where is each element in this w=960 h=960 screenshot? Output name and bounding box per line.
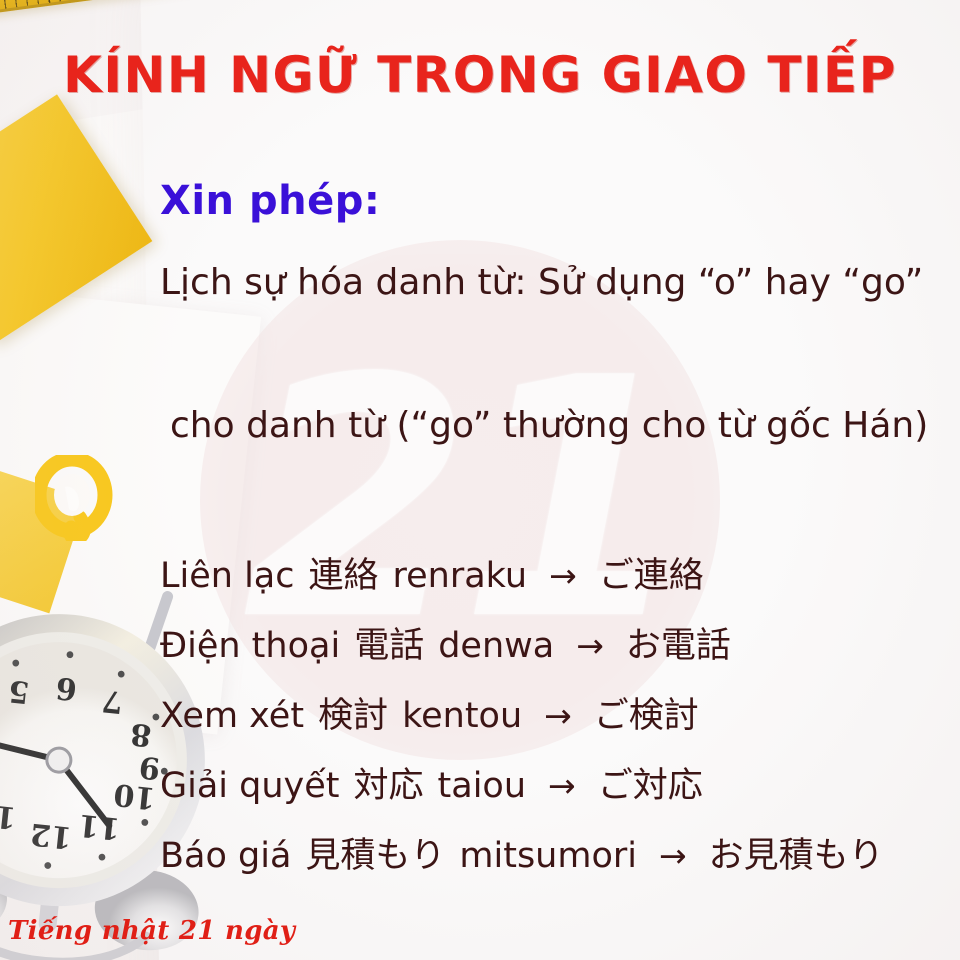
vocab-keigo: ご対応 xyxy=(598,755,703,817)
vocab-row: Báo giá 見積もり mitsumori → お見積もり xyxy=(160,825,884,887)
vocab-kanji: 見積もり xyxy=(305,825,445,887)
vocab-kanji: 電話 xyxy=(354,615,424,677)
vocab-kanji: 検討 xyxy=(318,685,388,747)
vocab-kanji: 連絡 xyxy=(308,545,378,607)
vocab-keigo: お電話 xyxy=(626,615,731,677)
arrow-icon: → xyxy=(576,615,604,677)
vocab-vietnamese: Xem xét xyxy=(160,685,304,747)
arrow-icon: → xyxy=(659,825,687,887)
vocab-keigo: ご連絡 xyxy=(599,545,704,607)
slide-content: KÍNH NGỮ TRONG GIAO TIẾP Xin phép: Lịch … xyxy=(0,0,960,960)
vocab-row: Điện thoại 電話 denwa → お電話 xyxy=(160,615,884,677)
rule-line-2: cho danh từ (“go” thường cho từ gốc Hán) xyxy=(170,405,928,446)
vocab-row: Liên lạc 連絡 renraku → ご連絡 xyxy=(160,545,884,607)
page-title: KÍNH NGỮ TRONG GIAO TIẾP xyxy=(0,46,960,104)
vocab-romaji: kentou xyxy=(402,685,522,747)
vocab-romaji: denwa xyxy=(438,615,554,677)
vocab-romaji: mitsumori xyxy=(459,825,637,887)
slide-canvas: 26 25 24 23 22 21 20 19 18 17 16 15 xyxy=(0,0,960,960)
vocab-romaji: renraku xyxy=(393,545,528,607)
vocab-row: Xem xét 検討 kentou → ご検討 xyxy=(160,685,884,747)
vocab-romaji: taiou xyxy=(438,755,527,817)
arrow-icon: → xyxy=(548,755,576,817)
vocabulary-list: Liên lạc 連絡 renraku → ご連絡 Điện thoại 電話 … xyxy=(160,545,884,887)
vocab-keigo: お見積もり xyxy=(709,825,884,887)
brand-footer: Tiếng nhật 21 ngày xyxy=(8,916,295,946)
section-heading: Xin phép: xyxy=(160,178,380,224)
vocab-keigo: ご検討 xyxy=(594,685,699,747)
vocab-vietnamese: Giải quyết xyxy=(160,755,340,817)
arrow-icon: → xyxy=(549,545,577,607)
vocab-vietnamese: Báo giá xyxy=(160,825,291,887)
vocab-vietnamese: Điện thoại xyxy=(160,615,340,677)
arrow-icon: → xyxy=(544,685,572,747)
vocab-vietnamese: Liên lạc xyxy=(160,545,294,607)
vocab-kanji: 対応 xyxy=(354,755,424,817)
rule-line-1: Lịch sự hóa danh từ: Sử dụng “o” hay “go… xyxy=(160,262,923,303)
vocab-row: Giải quyết 対応 taiou → ご対応 xyxy=(160,755,884,817)
